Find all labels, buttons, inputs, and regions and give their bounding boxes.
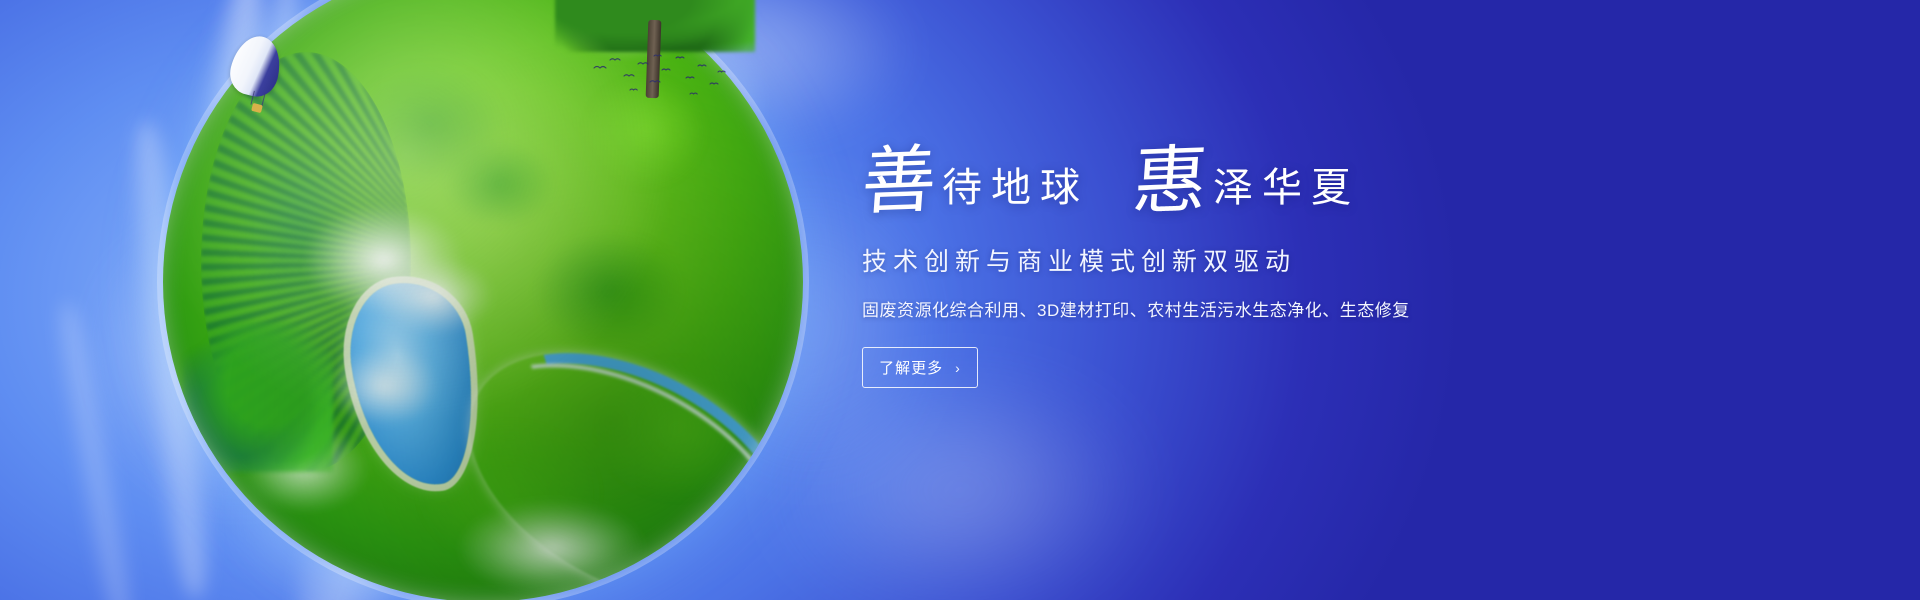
headline-plain-text-1: 待地球: [942, 168, 1089, 216]
banner-content: 善 待地球 惠 泽华夏 技术创新与商业模式创新双驱动 固废资源化综合利用、3D建…: [862, 128, 1482, 388]
learn-more-button[interactable]: 了解更多 ›: [862, 347, 978, 388]
page-title: 善 待地球 惠 泽华夏: [862, 128, 1482, 216]
balloon-basket: [251, 103, 263, 113]
banner-subtitle: 技术创新与商业模式创新双驱动: [862, 242, 1482, 278]
chevron-right-icon: ›: [955, 361, 961, 375]
headline-plain-text-2: 泽华夏: [1213, 168, 1360, 216]
headline-brush-char-1: 善: [860, 148, 939, 217]
hero-banner: 善 待地球 惠 泽华夏 技术创新与商业模式创新双驱动 固废资源化综合利用、3D建…: [0, 0, 1920, 600]
banner-description: 固废资源化综合利用、3D建材打印、农村生活污水生态净化、生态修复: [862, 296, 1482, 321]
headline-brush-char-2: 惠: [1131, 148, 1210, 217]
learn-more-label: 了解更多: [879, 357, 943, 378]
birds-icon: [590, 50, 730, 100]
hot-air-balloon-icon: [232, 36, 286, 122]
